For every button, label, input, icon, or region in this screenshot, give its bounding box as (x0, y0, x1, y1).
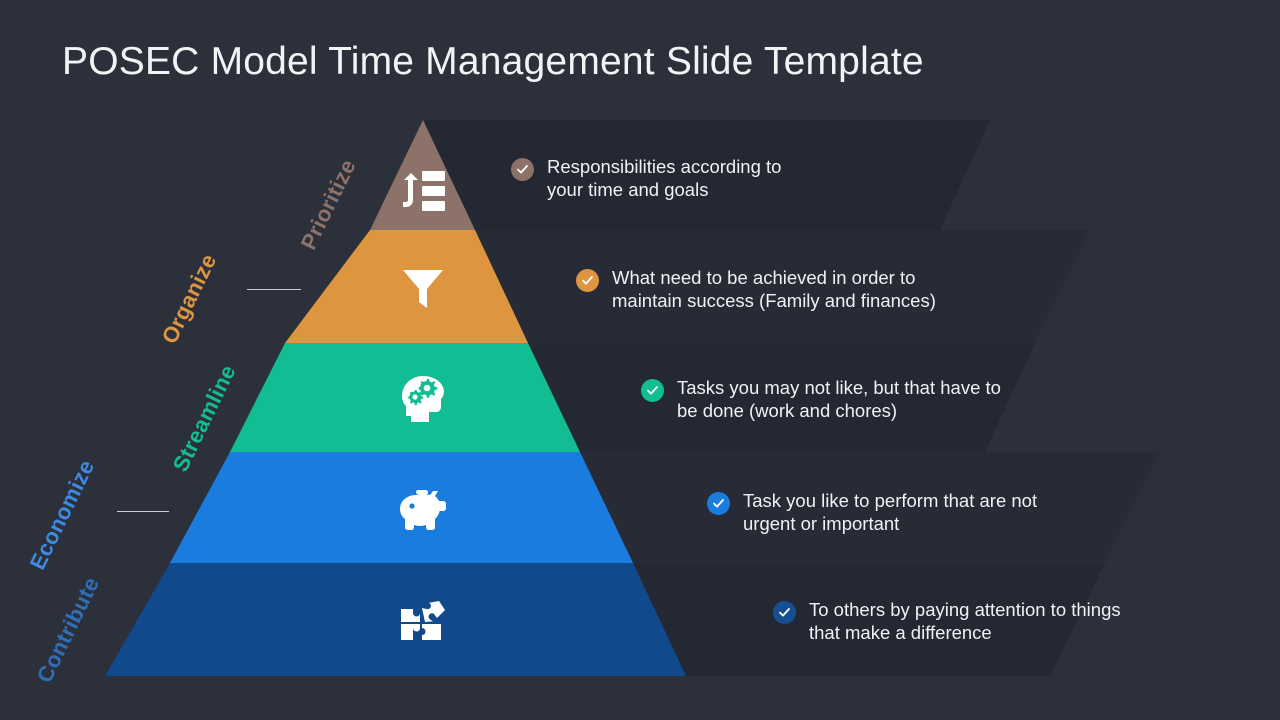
connector-line-organize (247, 289, 301, 290)
check-icon-prioritize (511, 158, 534, 181)
check-icon-contribute (773, 601, 796, 624)
description-row-contribute[interactable]: To others by paying attention to things … (773, 598, 1121, 645)
description-row-economize[interactable]: Task you like to perform that are not ur… (707, 489, 1037, 536)
description-text-organize: What need to be achieved in order to mai… (612, 266, 936, 313)
connector-line-economize (117, 511, 169, 512)
puzzle-pieces-icon (397, 598, 449, 648)
description-row-organize[interactable]: What need to be achieved in order to mai… (576, 266, 936, 313)
description-text-streamline: Tasks you may not like, but that have to… (677, 376, 1001, 423)
prioritize-list-arrow-icon (398, 165, 450, 217)
head-gears-icon (397, 374, 449, 424)
pyramid-level-contribute[interactable] (105, 563, 686, 676)
description-text-economize: Task you like to perform that are not ur… (743, 489, 1037, 536)
piggy-bank-icon (396, 487, 450, 535)
check-icon-economize (707, 492, 730, 515)
slide-canvas: POSEC Model Time Management Slide Templa… (0, 0, 1280, 720)
description-text-contribute: To others by paying attention to things … (809, 598, 1121, 645)
description-row-streamline[interactable]: Tasks you may not like, but that have to… (641, 376, 1001, 423)
description-text-prioritize: Responsibilities according to your time … (547, 155, 781, 202)
check-icon-organize (576, 269, 599, 292)
description-row-prioritize[interactable]: Responsibilities according to your time … (511, 155, 781, 202)
funnel-icon (399, 265, 447, 311)
check-icon-streamline (641, 379, 664, 402)
